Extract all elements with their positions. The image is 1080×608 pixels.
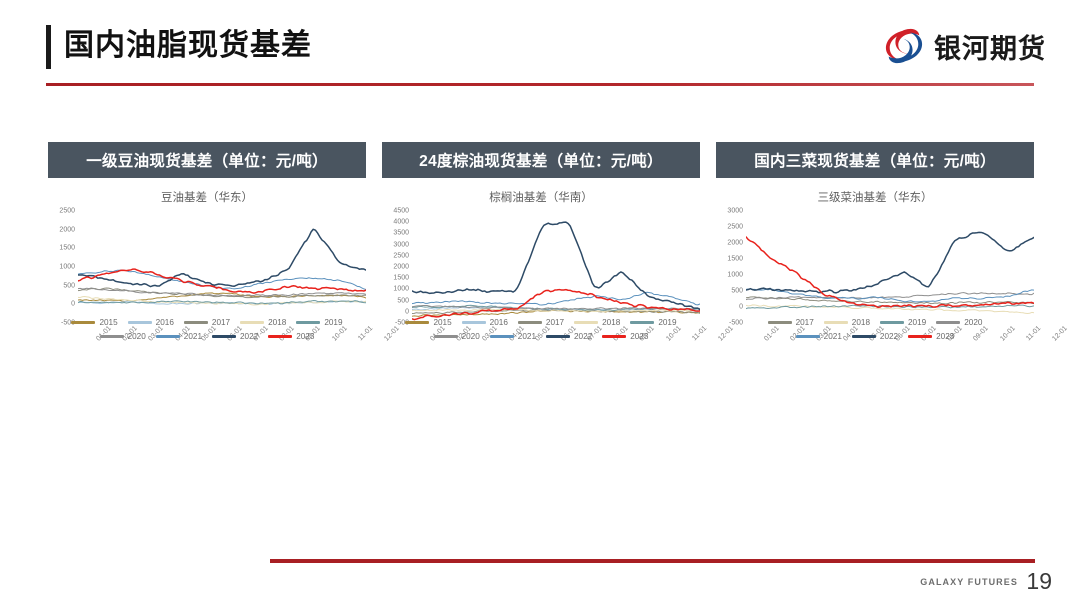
y-axis-tick-label: 3000 [393,241,412,248]
legend-item-2017[interactable]: 2017 [518,318,564,327]
y-axis: 25002000150010005000-500 [48,211,78,323]
y-axis-tick-label: 1000 [59,264,78,271]
legend-label: 2020 [128,332,146,341]
y-axis-tick-label: 2500 [393,252,412,259]
y-axis-tick-label: 1500 [59,245,78,252]
legend-swatch-2017 [768,321,792,324]
y-axis-tick-label: 1000 [727,272,746,279]
legend-item-2022[interactable]: 2022 [212,332,258,341]
legend-swatch-2023 [602,335,626,338]
legend-swatch-2018 [574,321,598,324]
slide-root: 国内油脂现货基差 银河期货 一级豆油现货基差（单位：元/吨） 豆油基差（华东） … [0,0,1080,608]
legend-label: 2023 [296,332,314,341]
y-axis-tick-label: 3500 [393,230,412,237]
panel-subtitle: 棕榈油基差（华南） [382,189,700,205]
legend-item-2017[interactable]: 2017 [768,318,814,327]
chart-plot-svg [78,211,366,323]
legend-swatch-2016 [128,321,152,324]
legend-label: 2020 [964,318,982,327]
legend-row: 2020202120222023 [382,332,700,341]
legend-swatch-2020 [936,321,960,324]
legend-swatch-2015 [405,321,429,324]
legend-item-2018[interactable]: 2018 [824,318,870,327]
legend-item-2015[interactable]: 2015 [405,318,451,327]
legend-label: 2018 [852,318,870,327]
page-title: 国内油脂现货基差 [64,24,312,68]
legend-label: 2021 [518,332,536,341]
legend-item-2018[interactable]: 2018 [574,318,620,327]
legend-item-2023[interactable]: 2023 [908,332,954,341]
chart-legend: 201520162017201820192020202120222023 [382,318,700,341]
legend-label: 2019 [908,318,926,327]
y-axis: 450040003500300025002000150010005000-500 [382,211,412,323]
legend-label: 2016 [490,318,508,327]
series-line-2015 [78,293,366,302]
legend-swatch-2016 [462,321,486,324]
legend-swatch-2020 [434,335,458,338]
y-axis-tick-label: 0 [71,301,78,308]
series-line-2021 [746,289,1034,302]
chart-canvas: 300025002000150010005000-50001-0102-0103… [716,211,1034,323]
legend-row: 202120222023 [716,332,1034,341]
legend-swatch-2021 [156,335,180,338]
panel-header-bar: 国内三菜现货基差（单位：元/吨） [716,142,1034,178]
legend-swatch-2022 [546,335,570,338]
y-axis-tick-label: 1500 [393,275,412,282]
legend-item-2021[interactable]: 2021 [490,332,536,341]
panel-subtitle: 三级菜油基差（华东） [716,189,1034,205]
galaxy-swirl-logo-icon [883,26,925,66]
legend-label: 2021 [824,332,842,341]
chart-panel-rapeseed-oil: 国内三菜现货基差（单位：元/吨） 三级菜油基差（华东） 300025002000… [716,142,1034,387]
chart-plot-svg [412,211,700,323]
y-axis-tick-label: 2500 [727,224,746,231]
legend-label: 2023 [936,332,954,341]
footer-rule [270,559,1035,563]
legend-label: 2021 [184,332,202,341]
legend-swatch-2017 [184,321,208,324]
legend-label: 2020 [462,332,480,341]
legend-item-2019[interactable]: 2019 [880,318,926,327]
legend-swatch-2018 [824,321,848,324]
legend-row: 2017201820192020 [716,318,1034,327]
footer-brand-text: GALAXY FUTURES [920,577,1018,587]
panel-header-text: 24度棕油现货基差（单位：元/吨） [419,149,663,171]
legend-label: 2018 [602,318,620,327]
legend-row: 20152016201720182019 [382,318,700,327]
legend-swatch-2015 [71,321,95,324]
legend-label: 2015 [433,318,451,327]
company-logo: 银河期货 [883,26,1046,66]
series-line-2022 [78,229,366,286]
legend-label: 2016 [156,318,174,327]
y-axis-tick-label: 2000 [59,226,78,233]
legend-item-2017[interactable]: 2017 [184,318,230,327]
legend-item-2020[interactable]: 2020 [434,332,480,341]
legend-label: 2022 [880,332,898,341]
y-axis-tick-label: 0 [405,308,412,315]
legend-label: 2017 [546,318,564,327]
y-axis-tick-label: 3000 [727,208,746,215]
logo-brand-text: 银河期货 [934,27,1046,66]
panel-header-text: 国内三菜现货基差（单位：元/吨） [754,149,996,171]
title-accent-bar [46,25,51,69]
chart-plot-svg [746,211,1034,323]
page-number: 19 [1026,568,1052,595]
legend-swatch-2023 [268,335,292,338]
legend-swatch-2022 [852,335,876,338]
legend-item-2023[interactable]: 2023 [268,332,314,341]
legend-item-2021[interactable]: 2021 [796,332,842,341]
y-axis-tick-label: 500 [63,282,78,289]
y-axis: 300025002000150010005000-500 [716,211,746,323]
legend-label: 2017 [796,318,814,327]
legend-item-2022[interactable]: 2022 [546,332,592,341]
legend-item-2020[interactable]: 2020 [936,318,982,327]
legend-label: 2022 [574,332,592,341]
legend-label: 2023 [630,332,648,341]
x-axis-tick-label: 12-01 [1051,325,1069,343]
legend-item-2019[interactable]: 2019 [630,318,676,327]
legend-swatch-2022 [212,335,236,338]
panel-header-text: 一级豆油现货基差（单位：元/吨） [86,149,328,171]
chart-legend: 2017201820192020202120222023 [716,318,1034,341]
y-axis-tick-label: 1500 [727,256,746,263]
legend-swatch-2017 [518,321,542,324]
legend-label: 2019 [658,318,676,327]
legend-swatch-2020 [100,335,124,338]
legend-label: 2017 [212,318,230,327]
chart-panel-palm-oil: 24度棕油现货基差（单位：元/吨） 棕榈油基差（华南） 450040003500… [382,142,700,387]
legend-item-2022[interactable]: 2022 [852,332,898,341]
legend-swatch-2021 [796,335,820,338]
legend-swatch-2021 [490,335,514,338]
header-divider-rule [46,83,1034,86]
series-line-2021 [78,270,366,289]
legend-item-2021[interactable]: 2021 [156,332,202,341]
chart-panel-soybean-oil: 一级豆油现货基差（单位：元/吨） 豆油基差（华东） 25002000150010… [48,142,366,387]
legend-label: 2015 [99,318,117,327]
chart-canvas: 450040003500300025002000150010005000-500… [382,211,700,323]
series-line-2022 [746,232,1034,292]
slide-header: 国内油脂现货基差 银河期货 [0,0,1080,96]
legend-label: 2018 [268,318,286,327]
y-axis-tick-label: 2000 [393,264,412,271]
y-axis-tick-label: 1000 [393,286,412,293]
legend-item-2020[interactable]: 2020 [100,332,146,341]
y-axis-tick-label: 4500 [393,208,412,215]
y-axis-tick-label: 4000 [393,219,412,226]
legend-row: 2020202120222023 [48,332,366,341]
legend-swatch-2019 [880,321,904,324]
chart-canvas: 25002000150010005000-50001-0102-0103-010… [48,211,366,323]
legend-swatch-2018 [240,321,264,324]
legend-label: 2019 [324,318,342,327]
legend-swatch-2019 [630,321,654,324]
legend-item-2019[interactable]: 2019 [296,318,342,327]
legend-item-2023[interactable]: 2023 [602,332,648,341]
legend-swatch-2019 [296,321,320,324]
legend-label: 2022 [240,332,258,341]
legend-item-2015[interactable]: 2015 [71,318,117,327]
legend-swatch-2023 [908,335,932,338]
legend-item-2016[interactable]: 2016 [128,318,174,327]
series-line-2022 [412,222,700,310]
chart-legend: 201520162017201820192020202120222023 [48,318,366,341]
y-axis-tick-label: 0 [739,304,746,311]
y-axis-tick-label: 2500 [59,208,78,215]
y-axis-tick-label: 500 [397,297,412,304]
legend-item-2018[interactable]: 2018 [240,318,286,327]
legend-row: 20152016201720182019 [48,318,366,327]
y-axis-tick-label: 500 [731,288,746,295]
y-axis-tick-label: 2000 [727,240,746,247]
panel-subtitle: 豆油基差（华东） [48,189,366,205]
panel-header-bar: 24度棕油现货基差（单位：元/吨） [382,142,700,178]
legend-item-2016[interactable]: 2016 [462,318,508,327]
panel-header-bar: 一级豆油现货基差（单位：元/吨） [48,142,366,178]
